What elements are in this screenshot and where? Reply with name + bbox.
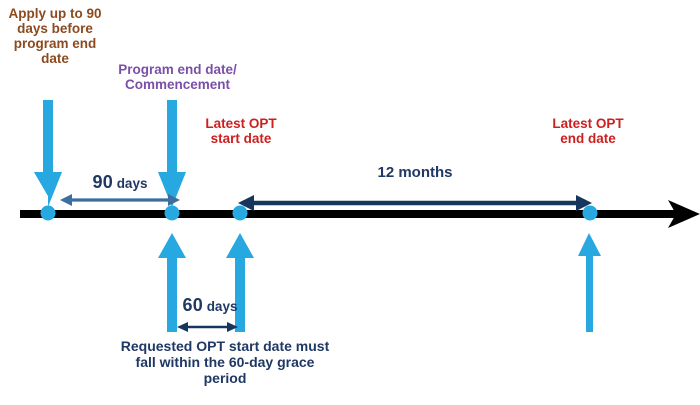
sixty-days-label: 60 days <box>165 295 255 315</box>
latest-opt-start-date-label: Latest OPT start date <box>205 116 277 146</box>
apply-window-down-arrow-icon <box>34 100 62 207</box>
latest-opt-end-up-arrow-icon <box>578 233 601 332</box>
ninety-days-label: 90 days <box>75 172 165 192</box>
twelve-months-span-arrow <box>238 195 592 211</box>
apply-start-marker-dot <box>41 206 56 221</box>
ninety-days-unit: days <box>113 176 148 191</box>
program-end-marker-dot <box>165 206 180 221</box>
ninety-days-number: 90 <box>93 172 113 192</box>
latest-opt-start-marker-dot <box>233 206 248 221</box>
program-end-date-label: Program end date/ Commencement <box>100 62 255 92</box>
twelve-months-label: 12 months <box>330 165 500 182</box>
opt-timeline-diagram: Apply up to 90 days before program end d… <box>0 0 700 405</box>
ninety-days-span-arrow <box>60 194 180 206</box>
latest-opt-end-marker-dot <box>583 206 598 221</box>
sixty-days-number: 60 <box>183 295 203 315</box>
grace-period-end-up-arrow-icon <box>226 233 254 332</box>
grace-period-note-label: Requested OPT start date must fall withi… <box>120 338 330 387</box>
sixty-days-span-arrow <box>177 322 238 332</box>
sixty-days-unit: days <box>203 299 238 314</box>
apply-before-program-end-label: Apply up to 90 days before program end d… <box>0 6 110 66</box>
grace-period-start-up-arrow-icon <box>158 233 186 332</box>
latest-opt-end-date-label: Latest OPT end date <box>552 116 624 146</box>
